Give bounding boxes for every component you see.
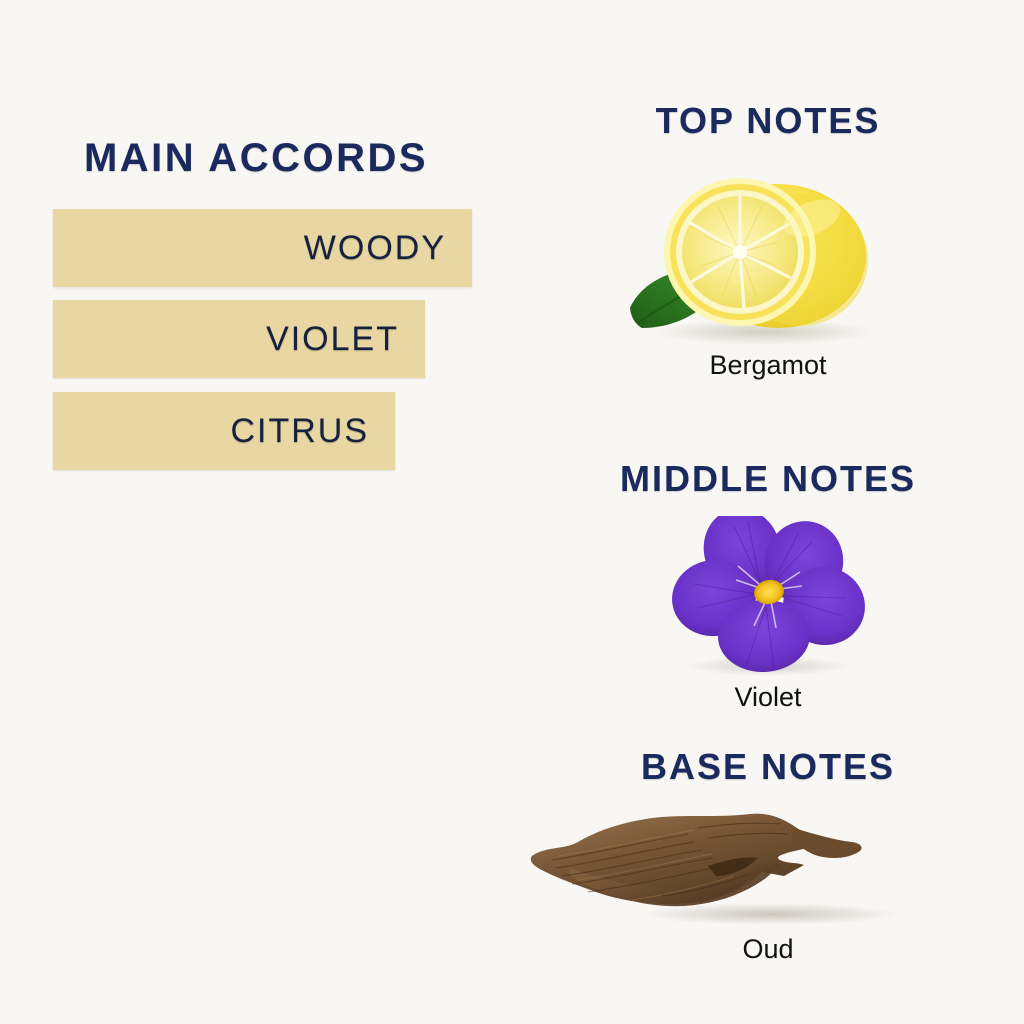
oud-wood-icon <box>512 806 1024 926</box>
accord-bar-violet[interactable]: VIOLET <box>53 300 425 378</box>
note-group-base: BASE NOTES <box>512 746 1024 965</box>
note-caption-top: Bergamot <box>512 350 1024 381</box>
accord-label: VIOLET <box>266 300 399 378</box>
accord-label: WOODY <box>304 209 446 287</box>
accord-label: CITRUS <box>230 392 369 470</box>
main-accords-panel: MAIN ACCORDS WOODY VIOLET CITRUS <box>0 0 512 1024</box>
main-accords-title: MAIN ACCORDS <box>0 136 512 181</box>
note-heading-middle: MIDDLE NOTES <box>512 458 1024 500</box>
notes-panel: TOP NOTES <box>512 0 1024 1024</box>
note-caption-base: Oud <box>512 934 1024 965</box>
fragrance-pyramid-infographic: MAIN ACCORDS WOODY VIOLET CITRUS TOP NOT… <box>0 0 1024 1024</box>
note-group-top: TOP NOTES <box>512 100 1024 381</box>
lemon-half-icon <box>512 156 1024 344</box>
note-caption-middle: Violet <box>512 682 1024 713</box>
violet-flower-icon <box>512 516 1024 676</box>
accord-bar-citrus[interactable]: CITRUS <box>53 392 395 470</box>
note-heading-base: BASE NOTES <box>512 746 1024 788</box>
accord-bar-woody[interactable]: WOODY <box>53 209 472 287</box>
note-group-middle: MIDDLE NOTES <box>512 458 1024 713</box>
note-heading-top: TOP NOTES <box>512 100 1024 142</box>
